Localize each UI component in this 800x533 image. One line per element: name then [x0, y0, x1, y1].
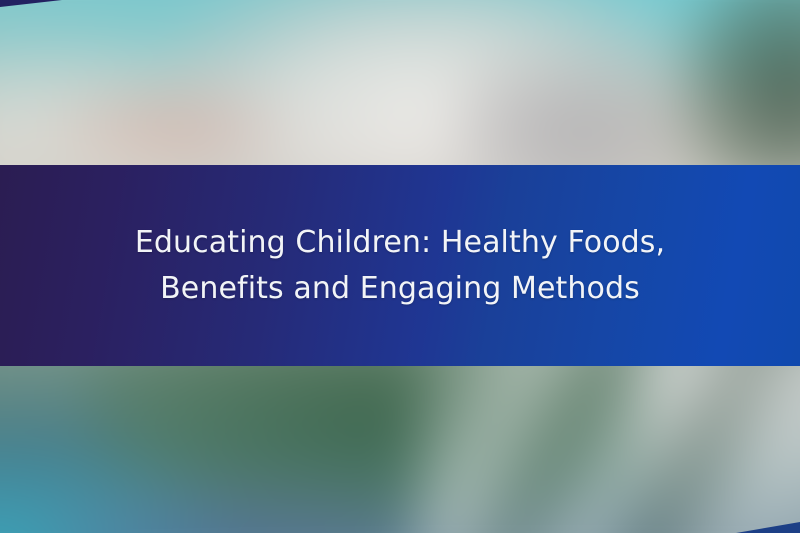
corner-accent-top-left-icon — [0, 0, 62, 7]
corner-accent-bottom-right-icon — [736, 522, 800, 533]
hero-banner-card: Educating Children: Healthy Foods, Benef… — [0, 0, 800, 533]
background-evergreen-trees — [680, 0, 800, 189]
title-banner: Educating Children: Healthy Foods, Benef… — [0, 165, 800, 366]
background-shadow-lower-left — [46, 474, 419, 533]
background-rooftops — [46, 78, 289, 169]
page-title: Educating Children: Healthy Foods, Benef… — [80, 220, 720, 311]
